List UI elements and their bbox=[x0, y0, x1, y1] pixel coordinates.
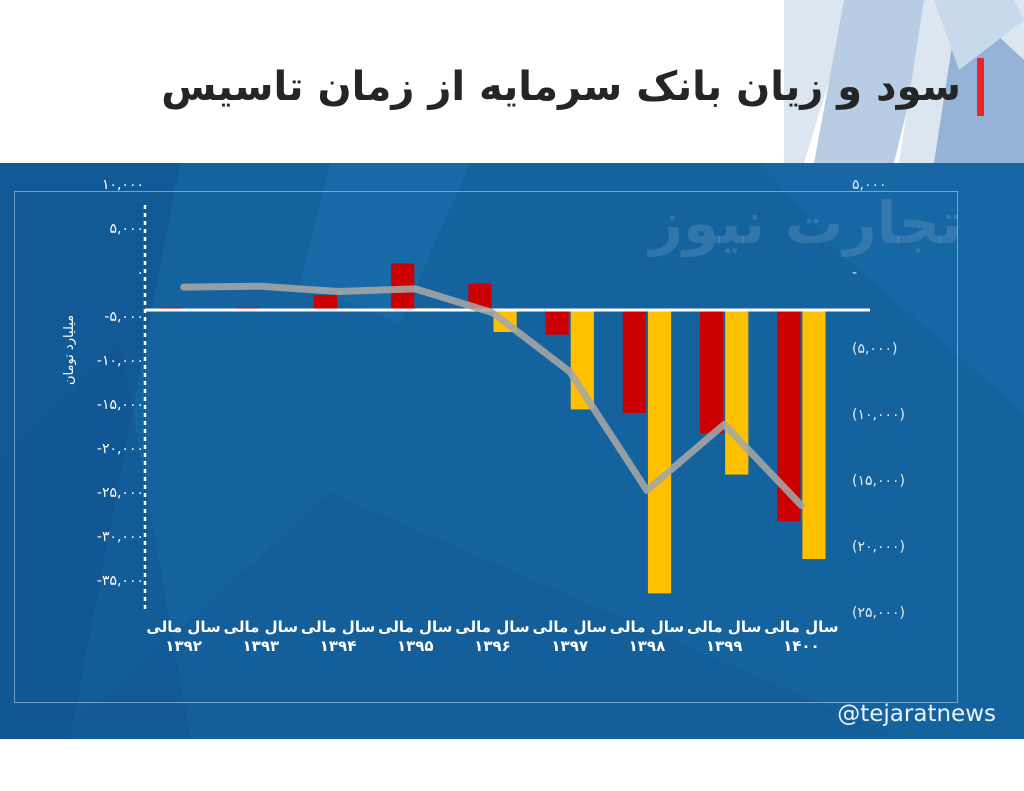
bar-operating-5 bbox=[546, 310, 569, 335]
x-tick-label-3: سال مالی۱۳۹۵ bbox=[377, 618, 454, 656]
x-tick-label-2: سال مالی۱۳۹۴ bbox=[299, 618, 376, 656]
x-tick-label-5: سال مالی۱۳۹۷ bbox=[531, 618, 608, 656]
title-accent-bar bbox=[977, 58, 984, 116]
bar-operating-6 bbox=[623, 310, 646, 413]
x-tick-label-7: سال مالی۱۳۹۹ bbox=[686, 618, 763, 656]
page-title: سود و زیان بانک سرمایه از زمان تاسیس bbox=[161, 64, 961, 110]
x-tick-label-8: سال مالی۱۴۰۰ bbox=[763, 618, 840, 656]
page-header: سود و زیان بانک سرمایه از زمان تاسیس bbox=[0, 0, 1024, 163]
x-tick-label-6: سال مالی۱۳۹۸ bbox=[608, 618, 685, 656]
chart-panel: تجارت نیوز میلیارد تومان ۱۰,۰۰۰ ۵,۰۰۰ ۰ … bbox=[0, 163, 1024, 791]
x-tick-label-4: سال مالی۱۳۹۶ bbox=[454, 618, 531, 656]
bar-operating-7 bbox=[700, 310, 723, 433]
x-tick-label-0: سال مالی۱۳۹۲ bbox=[145, 618, 222, 656]
footer-strip bbox=[0, 739, 1024, 791]
chart-plot-area bbox=[0, 163, 1024, 791]
bar-net-6 bbox=[648, 310, 671, 593]
title-row: سود و زیان بانک سرمایه از زمان تاسیس bbox=[161, 58, 984, 116]
social-handle: @tejaratnews bbox=[837, 701, 996, 727]
bar-net-8 bbox=[802, 310, 825, 559]
bar-operating-2 bbox=[314, 295, 337, 310]
x-tick-label-1: سال مالی۱۳۹۳ bbox=[222, 618, 299, 656]
